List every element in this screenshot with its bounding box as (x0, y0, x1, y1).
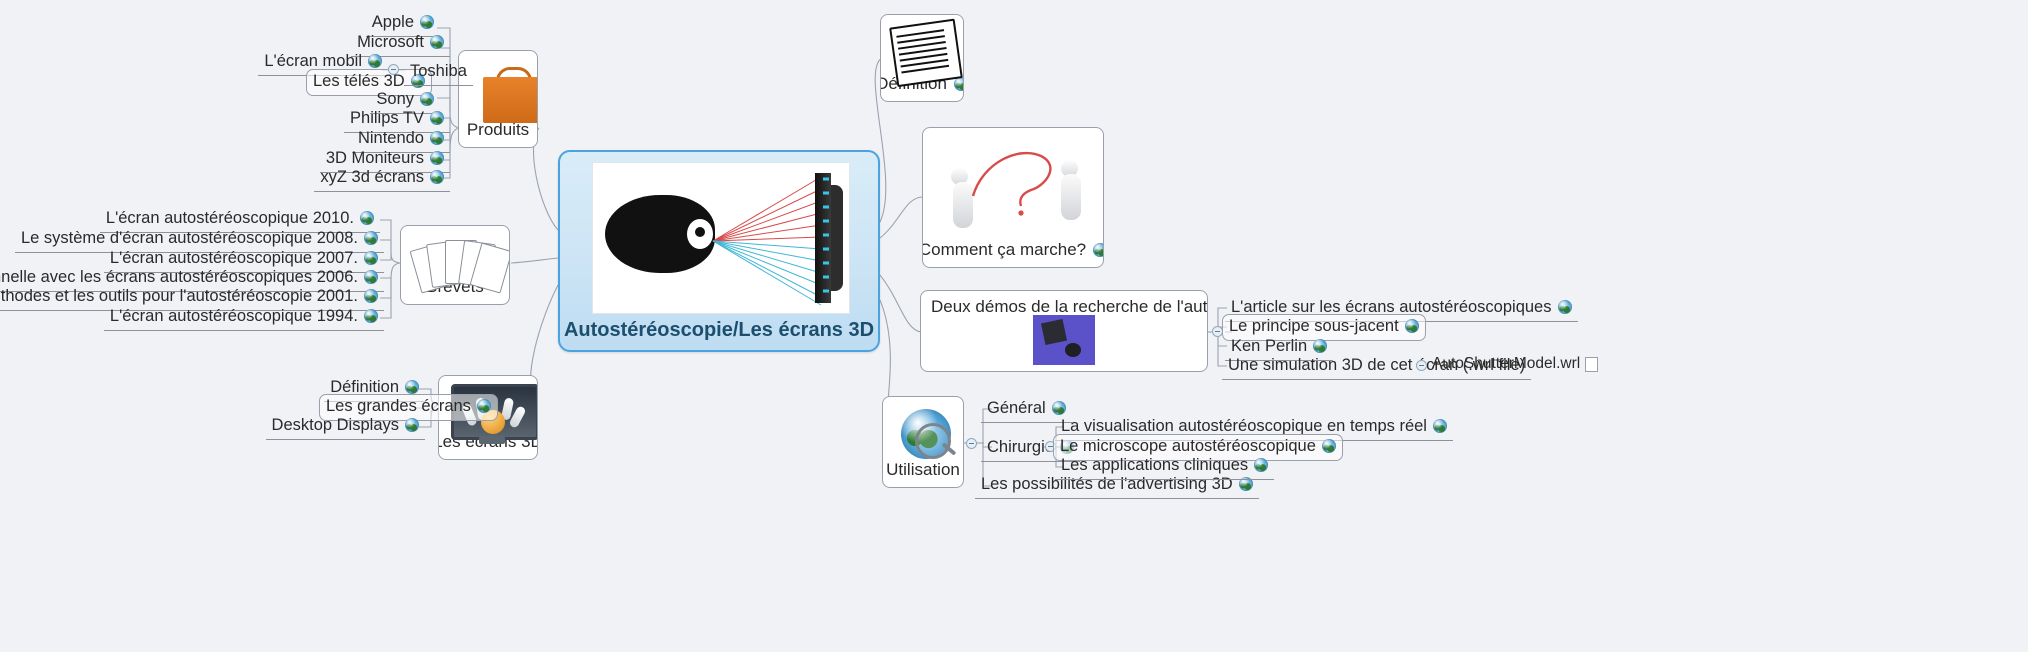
patent-cards-icon (415, 236, 503, 292)
branch-comment-label: Comment ça marche? (922, 236, 1104, 267)
node-label: Le système d'écran autostéréoscopique 20… (21, 230, 358, 247)
central-topic[interactable]: Autostéréoscopie/Les écrans 3D (558, 150, 880, 352)
globe-icon (430, 131, 444, 145)
globe-icon (1313, 339, 1327, 353)
globe-icon (430, 35, 444, 49)
node-label: L'écran autostéréoscopique 1994. (110, 308, 358, 325)
branch-definition[interactable]: Définition (880, 14, 964, 102)
globe-icon (364, 289, 378, 303)
node-label: L'écran mobil (264, 53, 362, 70)
globe-icon (364, 231, 378, 245)
file-icon (1585, 357, 1598, 372)
branch-deux-demos-label: Deux démos de la recherche de l'autostér… (921, 291, 1208, 317)
globe-icon (1052, 401, 1066, 415)
globe-icon (477, 399, 491, 413)
node-label: Le principe sous-jacent (1229, 318, 1399, 335)
node-label: Les grandes écrans (326, 398, 471, 415)
node-label: Deux démos de la recherche de l'autostér… (931, 297, 1208, 317)
node-label: xyZ 3d écrans (320, 169, 424, 186)
globe-icon (405, 380, 419, 394)
node-label: Microsoft (357, 34, 424, 51)
node-label: Ken Perlin (1231, 338, 1307, 355)
mindmap-canvas: Autostéréoscopie/Les écrans 3D Produits … (0, 0, 2028, 652)
globe-magnifier-icon (899, 407, 963, 465)
people-question-icon (949, 142, 1099, 220)
globe-icon (364, 309, 378, 323)
collapse-toggle-utilisation[interactable] (966, 438, 977, 449)
node-label: Le microscope autostéréoscopique (1060, 438, 1316, 455)
node-label: Desktop Displays (272, 417, 399, 434)
collapse-toggle-simulation-3d[interactable] (1416, 360, 1427, 371)
node-chirurgie-applications[interactable]: Les applications cliniques (1055, 454, 1274, 480)
globe-icon (1558, 300, 1572, 314)
globe-icon (420, 92, 434, 106)
globe-icon (1254, 458, 1268, 472)
branch-brevets[interactable]: Brevets (400, 225, 510, 305)
node-label: Apple (372, 14, 414, 31)
node-label: Sony (376, 91, 414, 108)
node-label: Les méthodes et les outils pour l'autost… (0, 288, 358, 305)
globe-icon (360, 211, 374, 225)
attachment-wrl-file[interactable]: AutoShutterModel.wrl (1432, 355, 1598, 373)
node-produits-toshiba[interactable]: Toshiba (404, 60, 473, 86)
node-label: Philips TV (350, 110, 424, 127)
globe-icon (364, 251, 378, 265)
branch-deux-demos[interactable]: Deux démos de la recherche de l'autostér… (920, 290, 1208, 372)
globe-icon (1405, 319, 1419, 333)
node-label: Comment ça marche? (922, 240, 1086, 260)
globe-icon (430, 111, 444, 125)
globe-icon (405, 418, 419, 432)
node-label: La visualisation autostéréoscopique en t… (1061, 418, 1427, 435)
node-label: Toshiba (410, 63, 467, 80)
globe-icon (420, 15, 434, 29)
node-ecrans3d-desktop-displays[interactable]: Desktop Displays (266, 414, 425, 440)
globe-icon (364, 270, 378, 284)
shopping-bag-icon (483, 63, 538, 123)
central-topic-image (592, 162, 850, 314)
collapse-toggle-toshiba[interactable] (388, 64, 399, 75)
branch-comment-ca-marche[interactable]: Comment ça marche? (922, 127, 1104, 268)
node-produits-xyz-3d-ecrans[interactable]: xyZ 3d écrans (314, 166, 450, 192)
node-label: L'écran autostéréoscopique 2007. (110, 250, 358, 267)
globe-icon (1322, 439, 1336, 453)
node-label: L'écran autostéréoscopique 2010. (106, 210, 354, 227)
globe-icon (430, 151, 444, 165)
node-label: Les applications cliniques (1061, 457, 1248, 474)
globe-icon (1433, 419, 1447, 433)
globe-icon (368, 54, 382, 68)
globe-icon (430, 170, 444, 184)
node-brevets-1994[interactable]: L'écran autostéréoscopique 1994. (104, 305, 384, 331)
book-icon (889, 19, 961, 87)
globe-icon (954, 77, 964, 91)
demo-thumbnail (1033, 315, 1095, 365)
branch-utilisation[interactable]: Utilisation (882, 396, 964, 488)
node-label: L'intéraction trois dimensionnelle avec … (0, 269, 358, 286)
node-label: Général (987, 400, 1046, 417)
attachment-label: AutoShutterModel.wrl (1432, 355, 1580, 373)
node-label: 3D Moniteurs (326, 150, 424, 167)
globe-icon (1093, 243, 1104, 257)
node-label: Chirurgie (987, 439, 1054, 456)
central-topic-title: Autostéréoscopie/Les écrans 3D (560, 319, 878, 342)
node-label: Nintendo (358, 130, 424, 147)
